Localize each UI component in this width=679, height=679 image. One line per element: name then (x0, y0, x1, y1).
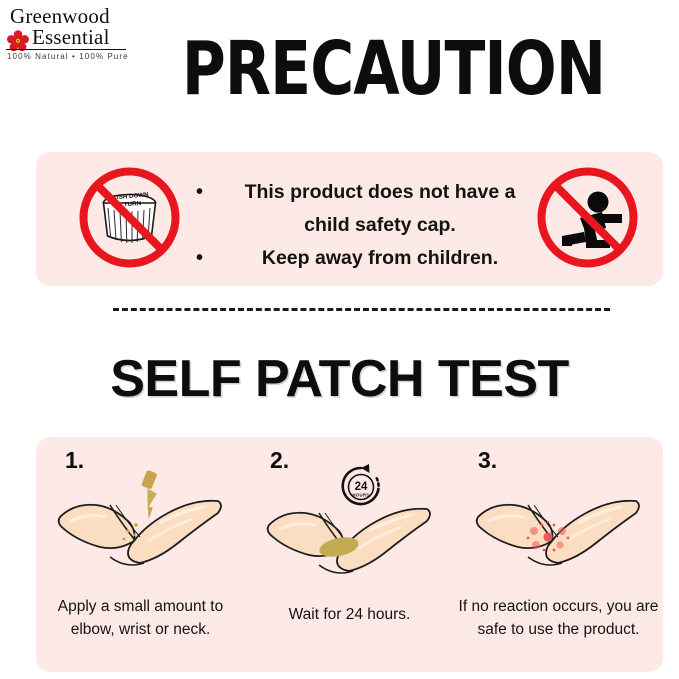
bullet-marker: • (186, 242, 230, 275)
elbow-with-dropper-icon (48, 465, 233, 583)
section-divider (113, 308, 610, 311)
bullet-text: Keep away from children. (230, 242, 530, 275)
precaution-bullet-list: • This product does not have a child saf… (186, 176, 530, 275)
elbow-with-irritation-icon (466, 465, 651, 583)
bullet-text: This product does not have a child safet… (230, 176, 530, 242)
list-item: • This product does not have a child saf… (186, 176, 530, 242)
page-title-precaution: PRECAUTION (34, 30, 645, 108)
step-number: 2. (270, 447, 289, 474)
bullet-marker: • (186, 176, 230, 209)
step-caption: If no reaction occurs, you are safe to u… (458, 595, 659, 641)
no-child-safety-cap-icon: PUSH DOWN & TURN (78, 166, 181, 269)
elbow-with-serum-icon (257, 473, 442, 591)
step-caption: Apply a small amount to elbow, wrist or … (40, 595, 241, 641)
no-children-crawling-baby-icon (536, 166, 639, 269)
patch-test-step-2: 2. 24 HOURS Wait for 24 hours. (245, 437, 454, 672)
patch-test-step-3: 3. If no reaction occurs, you are safe t… (454, 437, 663, 672)
step-caption: Wait for 24 hours. (249, 603, 450, 626)
page-title-self-patch-test: SELF PATCH TEST (0, 350, 679, 408)
patch-test-step-1: 1. Apply a small amount to elbow, wrist … (36, 437, 245, 672)
list-item: • Keep away from children. (186, 242, 530, 275)
